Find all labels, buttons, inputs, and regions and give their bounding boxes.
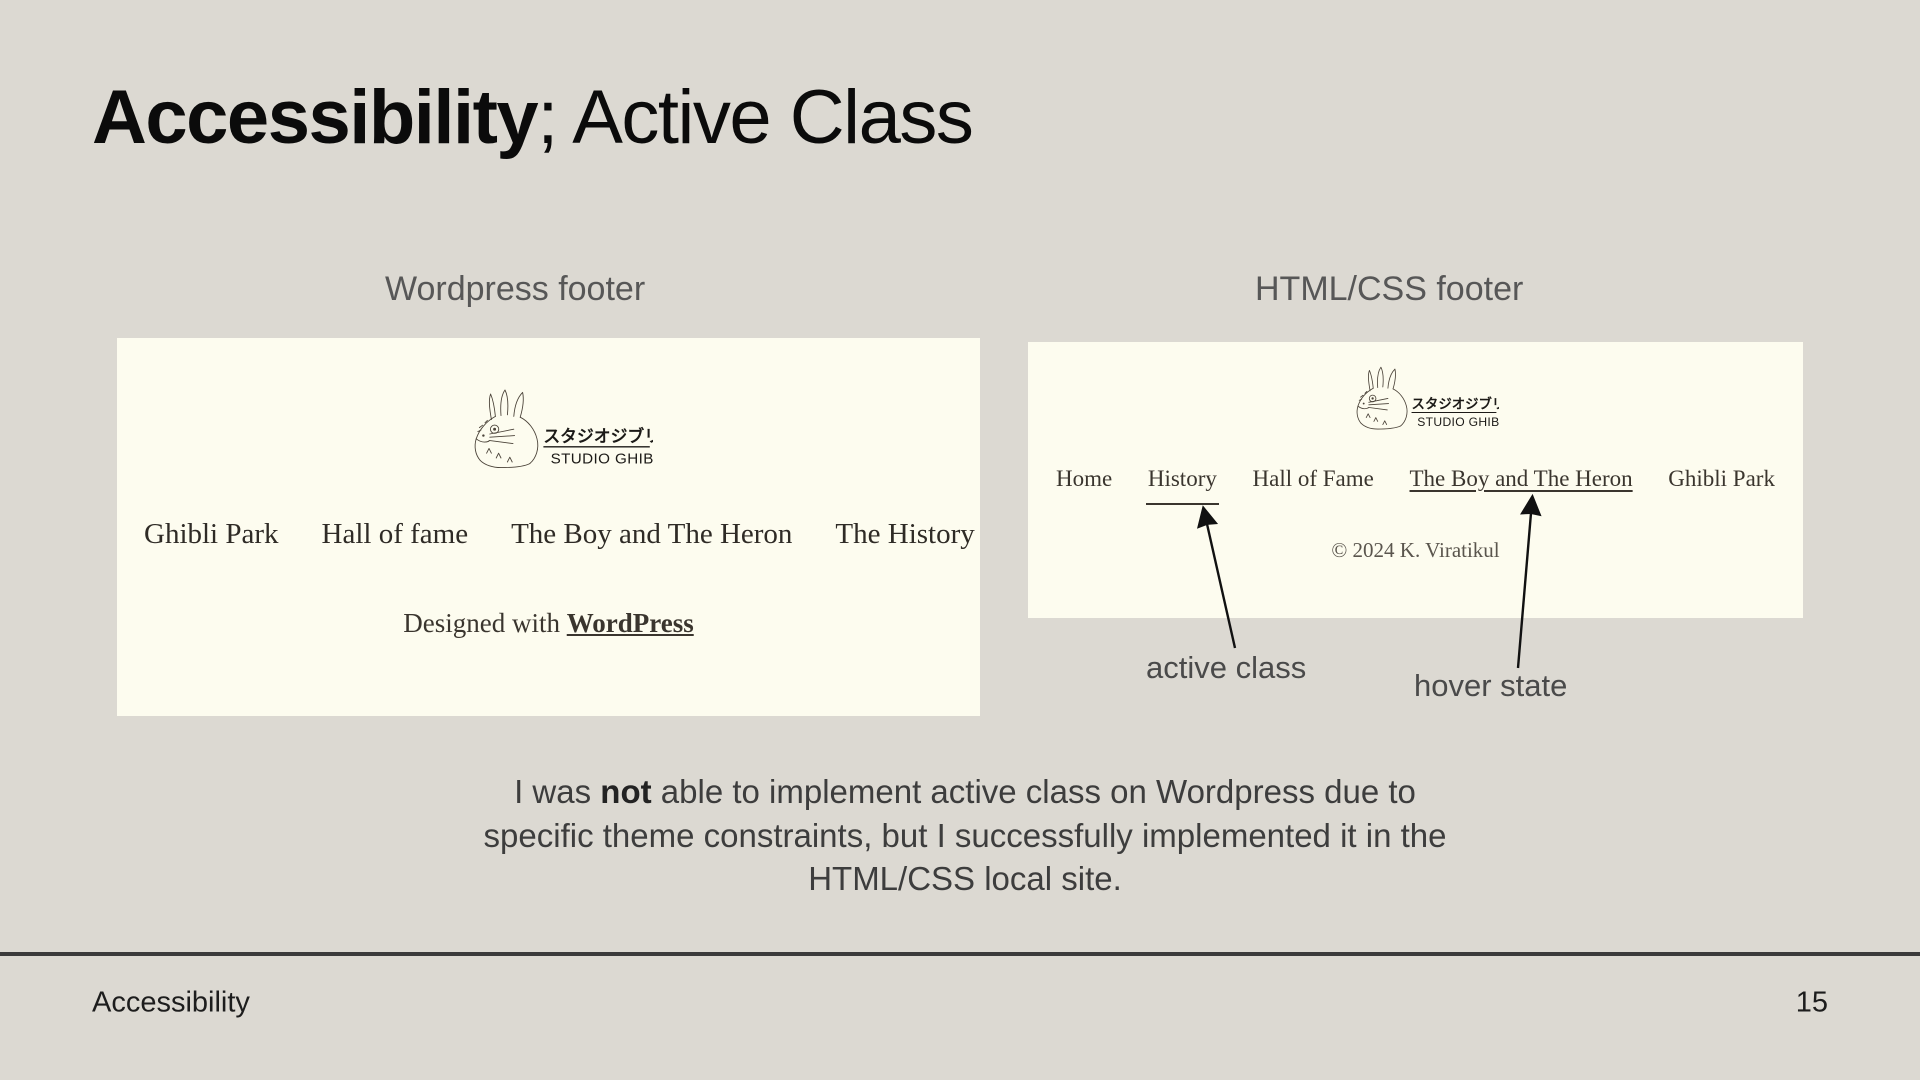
wordpress-credit-prefix: Designed with bbox=[403, 608, 566, 638]
body-paragraph: I was not able to implement active class… bbox=[460, 770, 1470, 901]
bottom-divider bbox=[0, 952, 1920, 956]
wp-nav-link-ghibli-park[interactable]: Ghibli Park bbox=[144, 518, 279, 551]
htmlcss-footer-preview: スタジオジブリ作品 STUDIO GHIBLI Home History Hal… bbox=[1028, 342, 1803, 618]
page-title-light: ; Active Class bbox=[537, 75, 972, 160]
wp-nav-link-boy-and-heron[interactable]: The Boy and The Heron bbox=[511, 518, 792, 551]
wordpress-column-heading: Wordpress footer bbox=[385, 270, 645, 309]
wordpress-credit-line: Designed with WordPress bbox=[117, 608, 980, 639]
htmlcss-footer-nav[interactable]: Home History Hall of Fame The Boy and Th… bbox=[1052, 466, 1779, 492]
wordpress-footer-preview: スタジオジブリ作品 STUDIO GHIBLI Ghibli Park Hall… bbox=[117, 338, 980, 716]
body-part-1: I was bbox=[514, 773, 600, 810]
ghibli-wordmark: スタジオジブリ作品 STUDIO GHIBLI bbox=[1411, 396, 1498, 429]
htmlcss-copyright: © 2024 K. Viratikul bbox=[1028, 538, 1803, 563]
html-nav-link-history[interactable]: History bbox=[1144, 466, 1221, 492]
html-nav-link-boy-and-heron[interactable]: The Boy and The Heron bbox=[1406, 466, 1637, 492]
wp-nav-link-the-history[interactable]: The History bbox=[835, 518, 974, 551]
wordpress-footer-nav[interactable]: Ghibli Park Hall of fame The Boy and The… bbox=[117, 518, 980, 551]
bottom-section-label: Accessibility bbox=[92, 987, 250, 1020]
body-bold-word: not bbox=[600, 773, 651, 810]
studio-ghibli-totoro-logo: スタジオジブリ作品 STUDIO GHIBLI bbox=[445, 386, 653, 470]
page-number: 15 bbox=[1796, 987, 1828, 1020]
wordpress-credit-link[interactable]: WordPress bbox=[567, 608, 694, 638]
html-nav-link-ghibli-park[interactable]: Ghibli Park bbox=[1664, 466, 1779, 492]
ghibli-latin-text: STUDIO GHIBLI bbox=[1417, 415, 1499, 429]
ghibli-latin-text: STUDIO GHIBLI bbox=[550, 451, 652, 468]
annotation-label-active-class: active class bbox=[1146, 650, 1306, 686]
page-title-bold: Accessibility bbox=[92, 75, 537, 160]
wp-nav-link-hall-of-fame[interactable]: Hall of fame bbox=[322, 518, 469, 551]
html-nav-link-hall-of-fame[interactable]: Hall of Fame bbox=[1249, 466, 1378, 492]
ghibli-wordmark: スタジオジブリ作品 STUDIO GHIBLI bbox=[543, 426, 653, 468]
html-nav-link-home[interactable]: Home bbox=[1052, 466, 1116, 492]
studio-ghibli-totoro-logo: スタジオジブリ作品 STUDIO GHIBLI bbox=[1333, 364, 1499, 431]
studio-ghibli-logo: スタジオジブリ作品 STUDIO GHIBLI bbox=[1333, 364, 1499, 431]
htmlcss-column-heading: HTML/CSS footer bbox=[1255, 270, 1523, 309]
ghibli-japanese-text: スタジオジブリ作品 bbox=[1411, 396, 1498, 413]
page-title: Accessibility; Active Class bbox=[92, 78, 972, 158]
studio-ghibli-logo: スタジオジブリ作品 STUDIO GHIBLI bbox=[445, 386, 653, 470]
ghibli-japanese-text: スタジオジブリ作品 bbox=[543, 426, 653, 446]
annotation-label-hover-state: hover state bbox=[1414, 668, 1567, 704]
